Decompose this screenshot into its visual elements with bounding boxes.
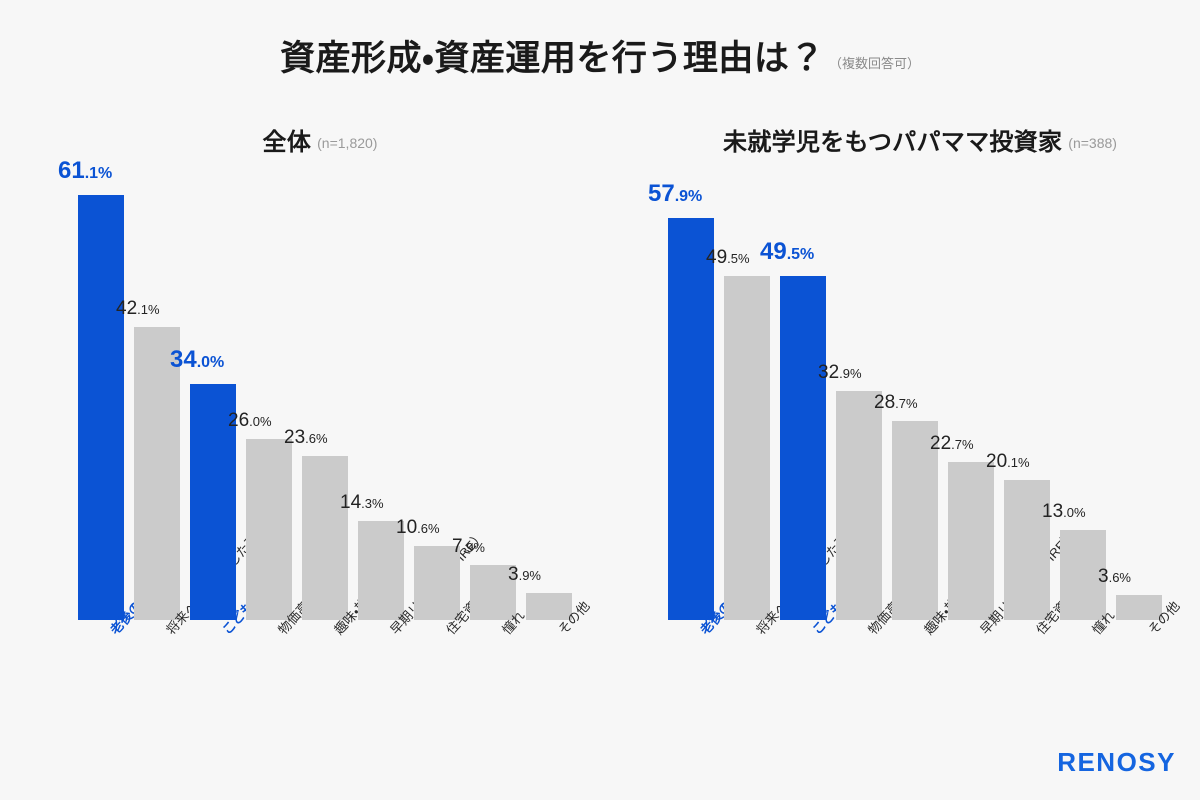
preschool-parents-bar-6[interactable]: [948, 462, 994, 620]
overall-value-label-7: 10.6%: [396, 518, 516, 537]
preschool-parents-value-label-9: 3.6%: [1098, 567, 1200, 586]
plot-area-overall: 61.1%老後の生活資金42.1%将来への漠然とした不安34.0%こどものため2…: [0, 0, 600, 800]
overall-bar-7[interactable]: [414, 546, 460, 620]
preschool-parents-value-label-8: 13.0%: [1042, 502, 1162, 521]
preschool-parents-value-label-3: 49.5%: [760, 240, 880, 264]
overall-value-label-8: 7.9%: [452, 537, 572, 556]
overall-value-label-3: 34.0%: [170, 348, 290, 372]
preschool-parents-bar-4[interactable]: [836, 391, 882, 620]
overall-bar-1[interactable]: [78, 195, 124, 620]
preschool-parents-value-label-5: 28.7%: [874, 393, 994, 412]
chart-panel-preschool-parents: 未就学児をもつパパママ投資家(n=388) 57.9%老後の生活資金49.5%将…: [600, 0, 1200, 800]
preschool-parents-value-label-7: 20.1%: [986, 452, 1106, 471]
overall-value-label-6: 14.3%: [340, 493, 460, 512]
overall-value-label-2: 42.1%: [116, 299, 236, 318]
plot-area-preschool-parents: 57.9%老後の生活資金49.5%将来への漠然とした不安49.5%こどものため3…: [600, 0, 1200, 800]
renosy-logo: RENOSY: [1057, 747, 1176, 778]
preschool-parents-value-label-4: 32.9%: [818, 363, 938, 382]
overall-value-label-5: 23.6%: [284, 428, 404, 447]
preschool-parents-value-label-1: 57.9%: [648, 182, 768, 206]
chart-panel-overall: 全体(n=1,820) 61.1%老後の生活資金42.1%将来への漠然とした不安…: [0, 0, 600, 800]
preschool-parents-bar-3[interactable]: [780, 276, 826, 620]
preschool-parents-bar-2[interactable]: [724, 276, 770, 620]
preschool-parents-bar-1[interactable]: [668, 218, 714, 620]
overall-value-label-1: 61.1%: [58, 159, 178, 183]
infographic-root: 資産形成・資産運用を行う理由は？（複数回答可） 全体(n=1,820) 61.1…: [0, 0, 1200, 800]
overall-bar-4[interactable]: [246, 439, 292, 620]
overall-bar-5[interactable]: [302, 456, 348, 620]
